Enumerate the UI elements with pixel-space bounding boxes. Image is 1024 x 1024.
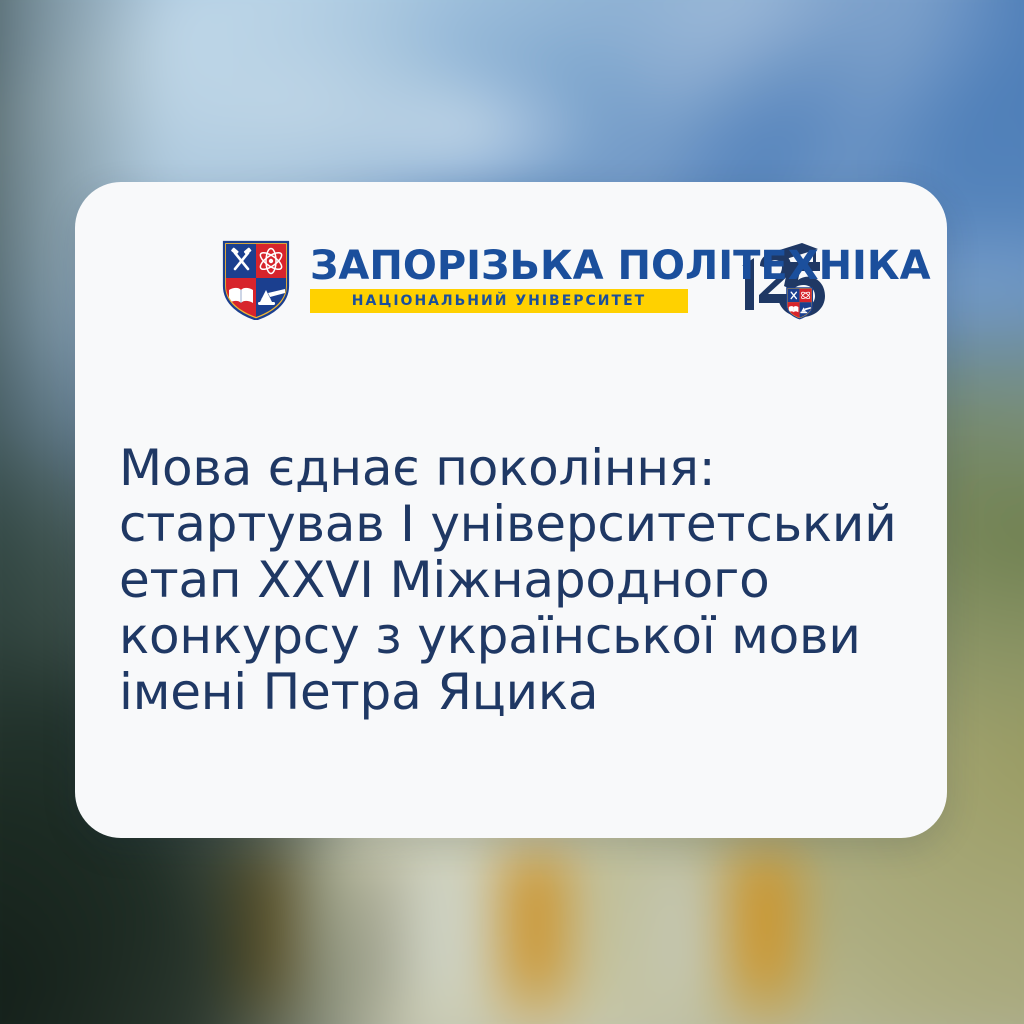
wordmark-main-text: ЗАПОРІЗЬКА ПОЛІТЕХНІКА [310, 247, 688, 286]
wordmark-sub-text: НАЦІОНАЛЬНИЙ УНІВЕРСИТЕТ [352, 293, 646, 309]
page-title: Мова єднає покоління: стартував I універ… [119, 440, 919, 720]
poster-canvas: ЗАПОРІЗЬКА ПОЛІТЕХНІКА НАЦІОНАЛЬНИЙ УНІВ… [0, 0, 1024, 1024]
logo-lockup: ЗАПОРІЗЬКА ПОЛІТЕХНІКА НАЦІОНАЛЬНИЙ УНІВ… [222, 232, 826, 328]
content-card: ЗАПОРІЗЬКА ПОЛІТЕХНІКА НАЦІОНАЛЬНИЙ УНІВ… [75, 182, 947, 838]
university-crest-icon [222, 240, 290, 320]
wordmark-yellow-bar: НАЦІОНАЛЬНИЙ УНІВЕРСИТЕТ [310, 289, 688, 313]
wordmark: ЗАПОРІЗЬКА ПОЛІТЕХНІКА НАЦІОНАЛЬНИЙ УНІВ… [310, 247, 688, 313]
